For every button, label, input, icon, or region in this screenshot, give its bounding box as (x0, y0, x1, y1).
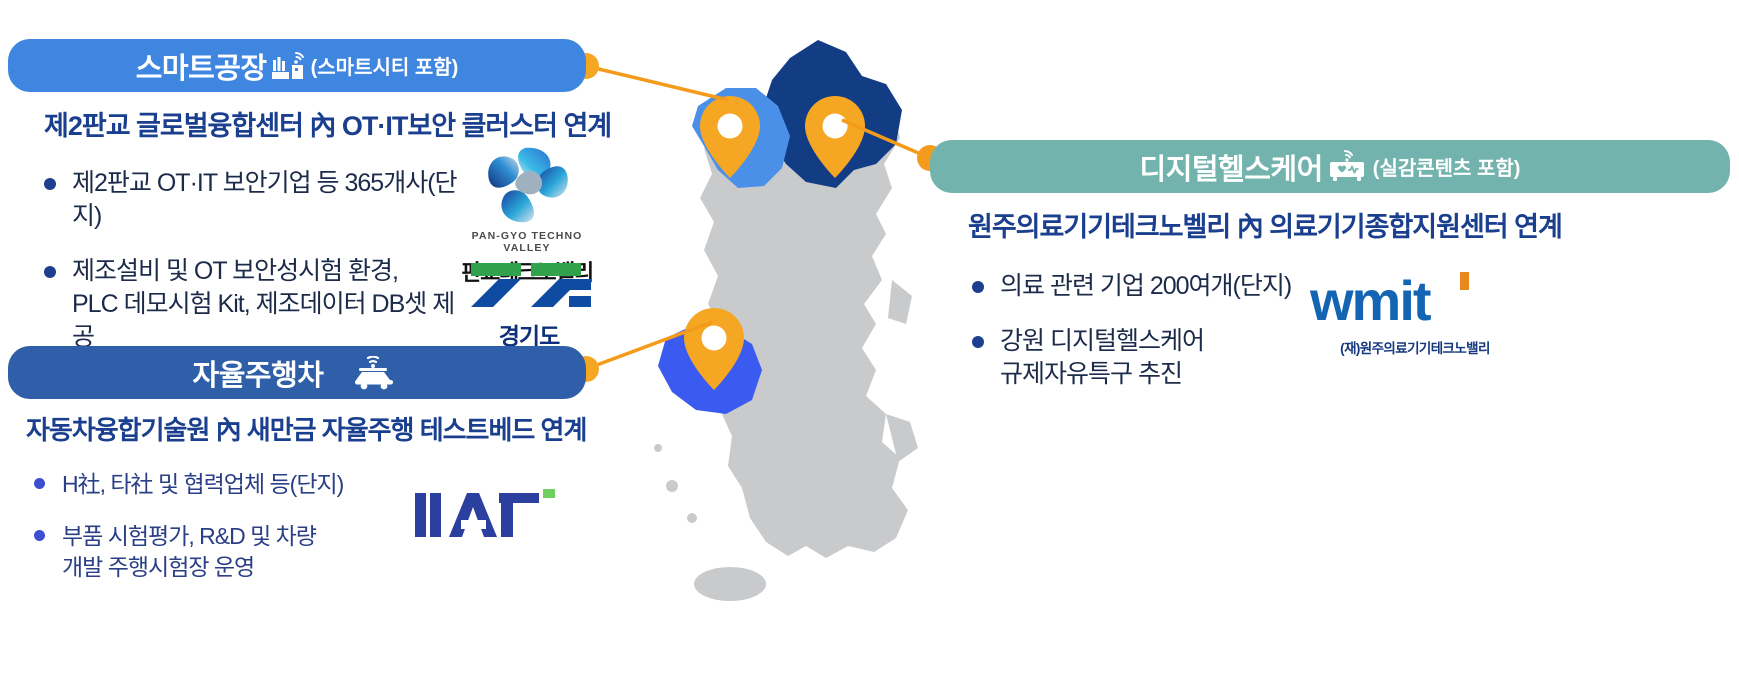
bullet-line: PLC 데모시험 Kit, 제조데이터 DB셋 제공 (72, 290, 454, 351)
list-item: 부품 시험평가, R&D 및 차량 개발 주행시험장 운영 (28, 521, 428, 582)
subhead-smart-factory: 제2판교 글로벌융합센터 內 OT·IT보안 클러스터 연계 (44, 104, 620, 143)
infographic-canvas: 스마트공장 (스마트시티 포함) 제2판교 글로벌융합센터 內 OT·IT보안 … (0, 0, 1739, 697)
bullet-dot-icon (972, 281, 984, 293)
bullet-dot-icon (34, 478, 45, 489)
map-island-1 (666, 480, 678, 492)
pill-title-smart-factory: 스마트공장 (136, 45, 267, 87)
bullet-line: 강원 디지털헬스케어 (1000, 327, 1204, 355)
list-item: H社, 타社 및 협력업체 등(단지) (28, 469, 428, 499)
subhead-autonomous-vehicle: 자동차융합기술원 內 새만금 자율주행 테스트베드 연계 (26, 410, 620, 447)
digital-healthcare-icon (1327, 150, 1367, 184)
bullet-line: 제조설비 및 OT 보안성시험 환경, (72, 257, 398, 285)
bullet-dot-icon (44, 266, 56, 278)
bullet-line: 제2판교 OT·IT 보안기업 등 365개사(단지) (72, 169, 457, 230)
bullet-dot-icon (972, 336, 984, 348)
pill-title-autonomous-vehicle: 자율주행차 (193, 352, 324, 394)
pill-subtitle-digital-healthcare: (실감콘텐츠 포함) (1373, 152, 1521, 181)
pangyo-mark-icon (452, 140, 602, 228)
wmit-logo-sub: (재)원주의료기기테크노밸리 (1305, 337, 1525, 357)
map-region-east-bump (888, 280, 912, 324)
bullet-line: 부품 시험평가, R&D 및 차량 (62, 523, 316, 549)
map-island-2 (687, 513, 697, 523)
header-pill-autonomous-vehicle[interactable]: 자율주행차 (8, 346, 586, 399)
bullet-list-smart-factory: 제2판교 OT·IT 보안기업 등 365개사(단지) 제조설비 및 OT 보안… (38, 167, 468, 354)
gyeonggi-mark-icon (458, 263, 600, 315)
bullet-dot-icon (44, 178, 56, 190)
bullet-dot-icon (34, 530, 45, 541)
map-island-3 (654, 444, 662, 452)
bullet-line: 규제자유특구 추진 (1000, 360, 1182, 388)
autonomous-car-icon (351, 356, 397, 390)
list-item: 제2판교 OT·IT 보안기업 등 365개사(단지) (38, 167, 468, 233)
map-region-jeju (694, 567, 766, 601)
jiat-logo: JIAT (408, 487, 568, 550)
wmit-logo: wmit (재)원주의료기기테크노밸리 (1305, 272, 1525, 357)
subhead-digital-healthcare: 원주의료기기테크노벨리 內 의료기기종합지원센터 연계 (968, 205, 1730, 244)
pill-title-digital-healthcare: 디지털헬스케어 (1140, 146, 1323, 188)
pill-subtitle-smart-factory: (스마트시티 포함) (311, 51, 459, 80)
bullet-line: H社, 타社 및 협력업체 등(단지) (62, 471, 343, 497)
smart-factory-icon (271, 51, 305, 81)
bullet-line: 의료 관련 기업 200여개(단지) (1000, 272, 1291, 300)
bullet-list-autonomous-vehicle: H社, 타社 및 협력업체 등(단지) 부품 시험평가, R&D 및 차량 개발… (28, 469, 428, 582)
header-pill-smart-factory[interactable]: 스마트공장 (스마트시티 포함) (8, 39, 586, 92)
bullet-line: 개발 주행시험장 운영 (62, 554, 254, 580)
wmit-logo-text: wmit (1310, 272, 1431, 332)
list-item: 제조설비 및 OT 보안성시험 환경, PLC 데모시험 Kit, 제조데이터 … (38, 255, 468, 354)
pangyo-logo-en: PAN-GYO TECHNO VALLEY (452, 230, 602, 254)
header-pill-digital-healthcare[interactable]: 디지털헬스케어 (실감콘텐츠 포함) (930, 140, 1730, 193)
